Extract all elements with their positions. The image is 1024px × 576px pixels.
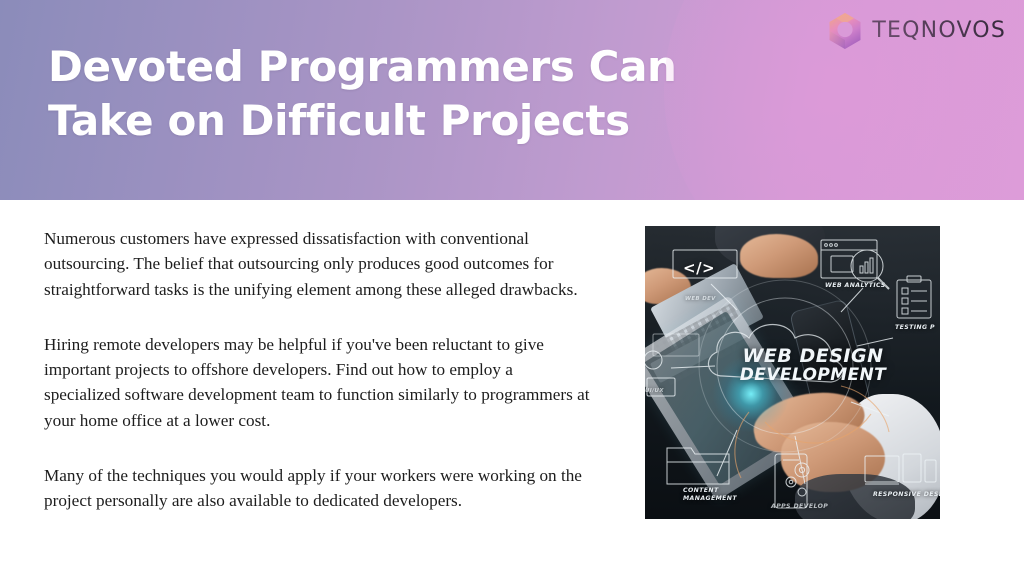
photo-label-apps-develop: APPS DEVELOP xyxy=(771,503,828,511)
web-design-development-photo: </> WEB DESIGN DEVELOPMENT WEB ANALYTICS… xyxy=(645,226,940,519)
photo-background: </> WEB DESIGN DEVELOPMENT WEB ANALYTICS… xyxy=(645,226,940,519)
photo-center-line2: DEVELOPMENT xyxy=(733,366,893,384)
photo-label-web-analytics: WEB ANALYTICS xyxy=(825,282,886,290)
content-area: Numerous customers have expressed dissat… xyxy=(0,200,1024,576)
photo-label-ui: UI/UX xyxy=(645,388,664,395)
hexagon-cube-logo-icon xyxy=(827,12,863,50)
page-title: Devoted Programmers Can Take on Difficul… xyxy=(48,40,688,148)
photo-label-responsive-design: RESPONSIVE DESIGN xyxy=(873,491,940,499)
photo-label-testing: TESTING P xyxy=(895,324,935,332)
body-paragraph-1: Numerous customers have expressed dissat… xyxy=(44,226,592,302)
photo-center-caption: WEB DESIGN DEVELOPMENT xyxy=(733,346,893,384)
photo-label-content-management: CONTENT MANAGEMENT xyxy=(683,487,743,503)
photo-label-dev: WEB DEV xyxy=(685,296,716,303)
body-paragraph-2: Hiring remote developers may be helpful … xyxy=(44,332,592,433)
header-banner: Devoted Programmers Can Take on Difficul… xyxy=(0,0,1024,200)
brand-logo[interactable]: TEQNOVOS xyxy=(827,11,1006,51)
logo-wordmark: TEQNOVOS xyxy=(872,20,1006,42)
photo-center-line1: WEB DESIGN xyxy=(733,346,893,366)
body-paragraph-3: Many of the techniques you would apply i… xyxy=(44,463,592,514)
body-copy: Numerous customers have expressed dissat… xyxy=(44,226,592,514)
code-glyph-icon: </> xyxy=(683,259,715,277)
